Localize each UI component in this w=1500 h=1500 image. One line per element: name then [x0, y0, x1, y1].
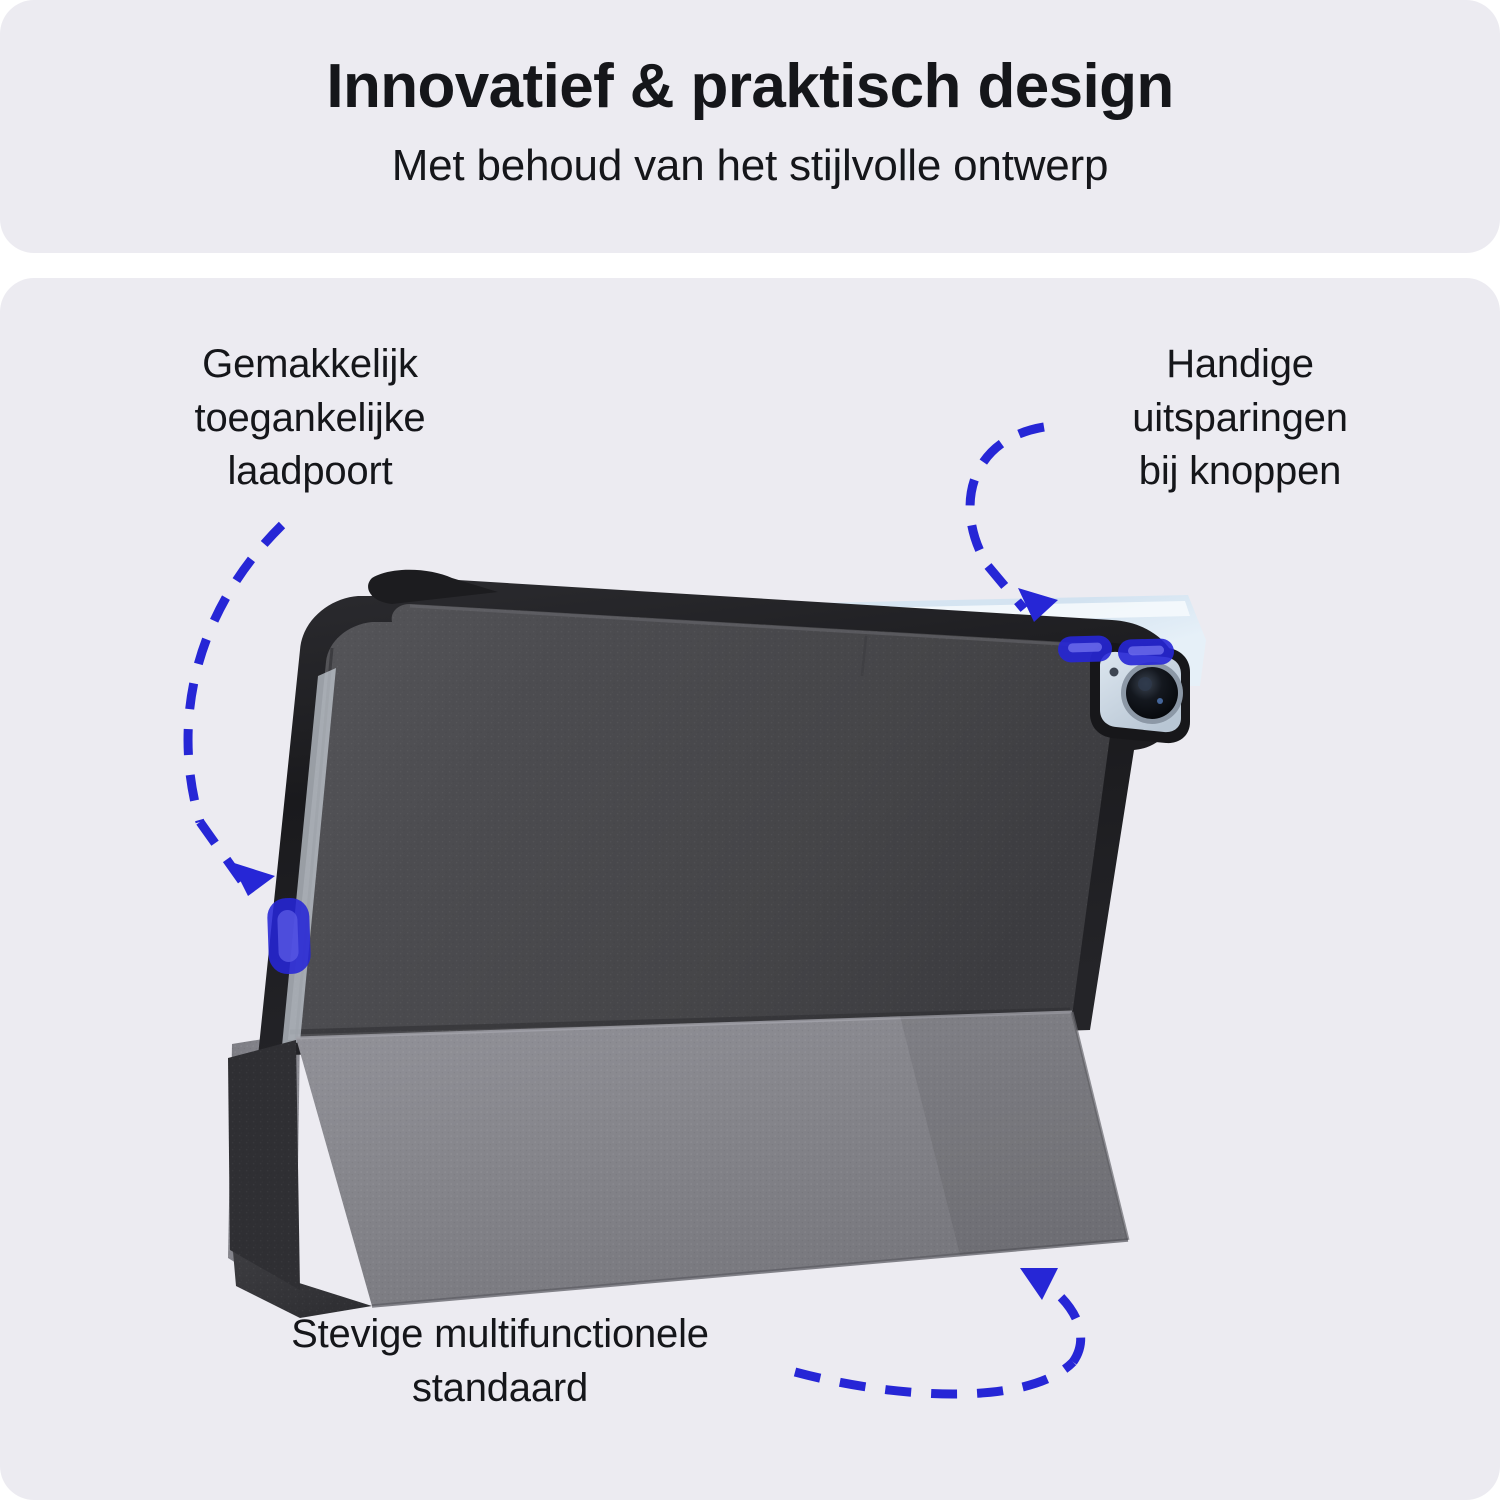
- microphone-hole: [1110, 668, 1119, 677]
- charging-port-cutout: [267, 897, 312, 974]
- callout-label-stand: Stevige multifunctionele standaard: [150, 1308, 850, 1415]
- kickstand-flap: [296, 1012, 1128, 1306]
- camera-lens: [1126, 667, 1178, 719]
- case-back-cover: [258, 570, 1180, 1056]
- infographic-page: Innovatief & praktisch design Met behoud…: [0, 0, 1500, 1500]
- tablet-case-illustration: [0, 0, 1500, 1500]
- product-image-stage: [0, 0, 1500, 1500]
- case-lower-back-strip: [228, 1040, 300, 1290]
- callout-label-button-cutouts: Handige uitsparingen bij knoppen: [1020, 338, 1460, 499]
- callout-label-charging-port: Gemakkelijk toegankelijke laadpoort: [90, 338, 530, 499]
